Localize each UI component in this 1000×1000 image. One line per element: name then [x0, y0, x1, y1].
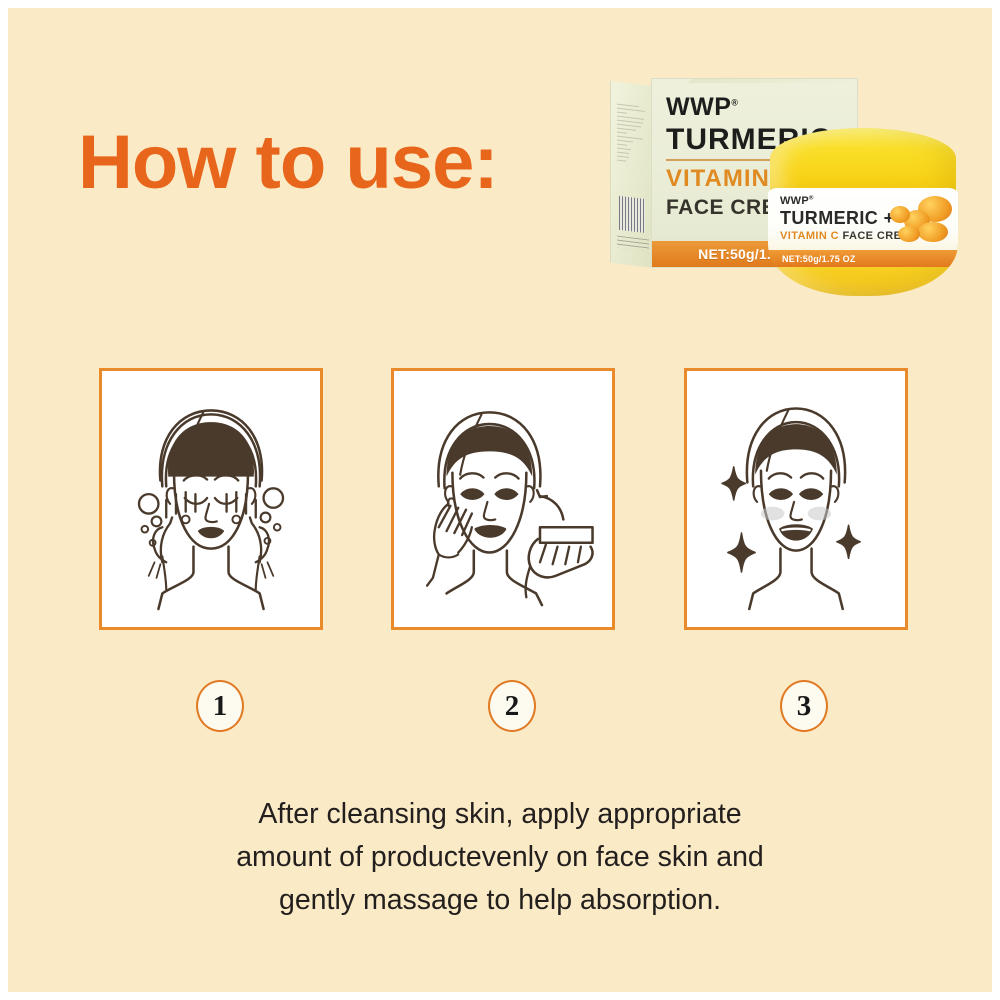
jar-brand: WWP® [780, 195, 814, 207]
carton-side-panel [610, 81, 653, 268]
carton-brand: WWP® [666, 93, 739, 122]
jar-label: WWP® TURMERIC + VITAMIN C FACE CREAM [768, 188, 958, 250]
carton-brand-text: WWP [666, 93, 731, 121]
carton-top-flap [688, 78, 858, 83]
instructions-line-1: After cleansing skin, apply appropriate [8, 793, 992, 836]
jar-registered-icon: ® [809, 195, 814, 201]
jar-brand-text: WWP [780, 195, 809, 207]
carton-barcode [619, 196, 645, 233]
woman-applying-cream-with-jar-icon [394, 371, 612, 627]
step-number-3: 3 [780, 680, 828, 732]
step-2-illustration-panel [391, 368, 615, 630]
carton-registered-icon: ® [731, 98, 738, 108]
jar-subtitle-vitamin: VITAMIN C [780, 230, 839, 242]
jar-product-name: TURMERIC + [780, 208, 895, 229]
instructions-line-2: amount of productevenly on face skin and [8, 836, 992, 879]
product-jar: WWP® TURMERIC + VITAMIN C FACE CREAM NET… [768, 128, 958, 296]
step-number-2: 2 [488, 680, 536, 732]
jar-body: WWP® TURMERIC + VITAMIN C FACE CREAM NET… [768, 188, 958, 296]
poster-canvas: How to use: [8, 8, 992, 992]
jar-net-weight: NET:50g/1.75 OZ [782, 254, 856, 264]
instructions-line-3: gently massage to help absorption. [8, 879, 992, 922]
carton-barcode-caption [617, 236, 649, 252]
woman-glowing-face-with-sparkles-icon [687, 371, 905, 627]
poster-root: How to use: [0, 0, 1000, 1000]
carton-side-text-lines [617, 104, 647, 168]
step-3-illustration-panel [684, 368, 908, 630]
step-1-illustration-panel [99, 368, 323, 630]
page-title: How to use: [78, 120, 498, 206]
product-image: WWP® TURMERIC VITAMIN C FACE CREAM NET:5… [600, 66, 970, 316]
instructions-text: After cleansing skin, apply appropriate … [8, 793, 992, 922]
jar-net-weight-band: NET:50g/1.75 OZ [768, 250, 958, 267]
woman-washing-face-with-bubbles-icon [102, 371, 320, 627]
step-number-1: 1 [196, 680, 244, 732]
turmeric-root-illustration-icon [882, 194, 954, 248]
